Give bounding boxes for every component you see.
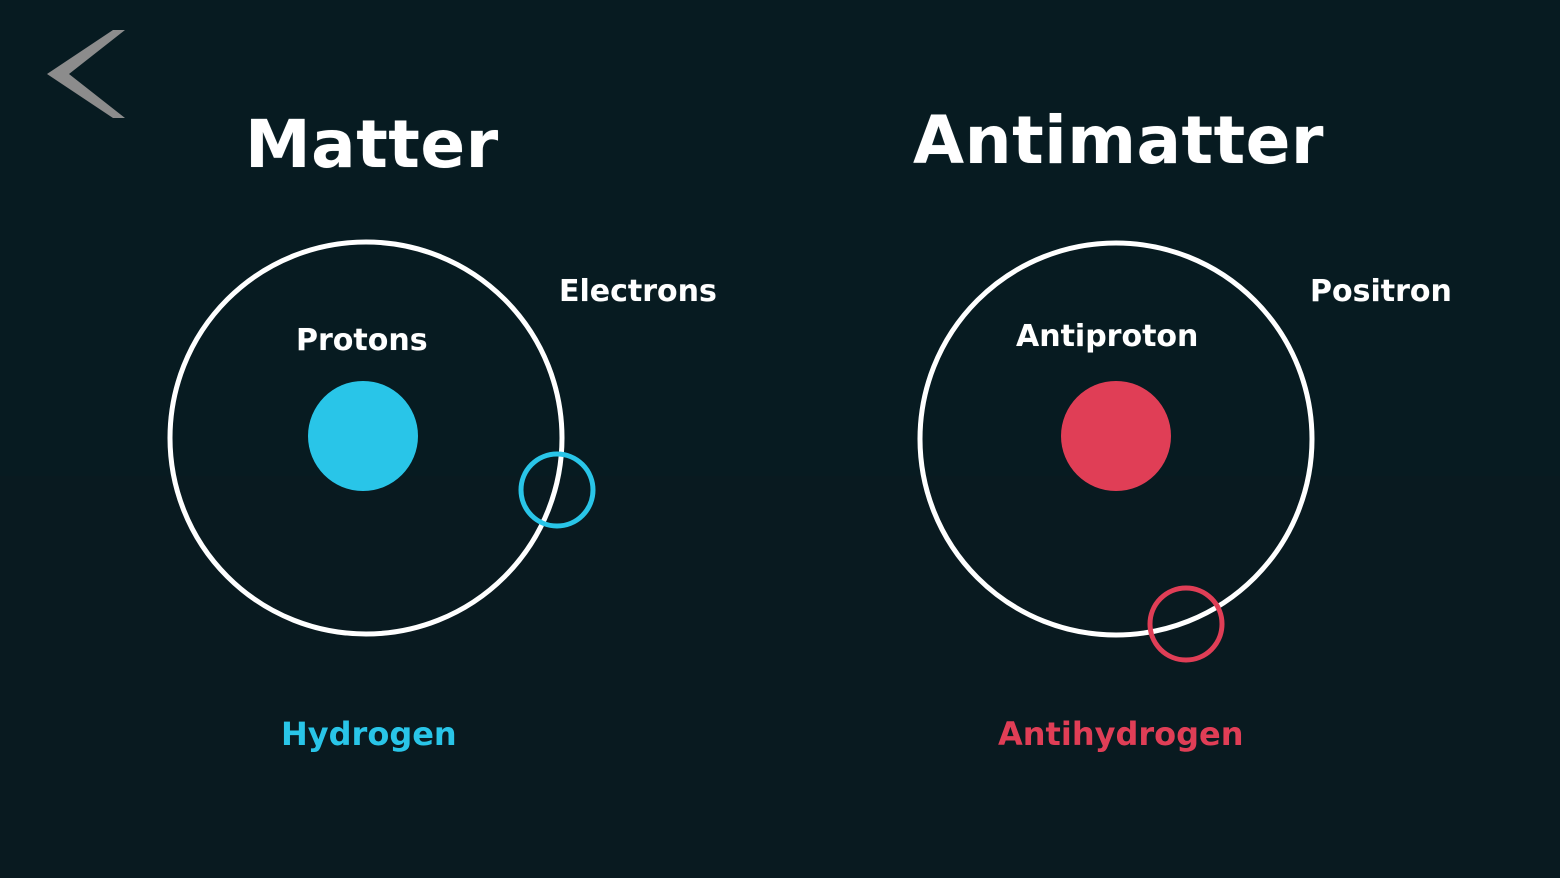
- nucleus-protons: [308, 381, 418, 491]
- atom-diagram-hydrogen: [166, 238, 566, 642]
- label-protons: Protons: [296, 326, 428, 356]
- column-title-antimatter: Antimatter: [913, 108, 1324, 174]
- caption-antihydrogen: Antihydrogen: [998, 718, 1244, 750]
- label-electrons: Electrons: [559, 277, 717, 307]
- slide-canvas: Matter Antimatter Protons Electrons Anti…: [0, 0, 1560, 878]
- caption-hydrogen: Hydrogen: [281, 718, 457, 750]
- chevron-left-icon: [40, 28, 126, 120]
- column-title-matter: Matter: [245, 112, 499, 178]
- atom-diagram-antihydrogen: [917, 238, 1317, 642]
- nucleus-antiproton: [1061, 381, 1171, 491]
- label-antiproton: Antiproton: [1016, 322, 1198, 352]
- label-positron: Positron: [1310, 277, 1452, 307]
- back-button[interactable]: [40, 28, 126, 120]
